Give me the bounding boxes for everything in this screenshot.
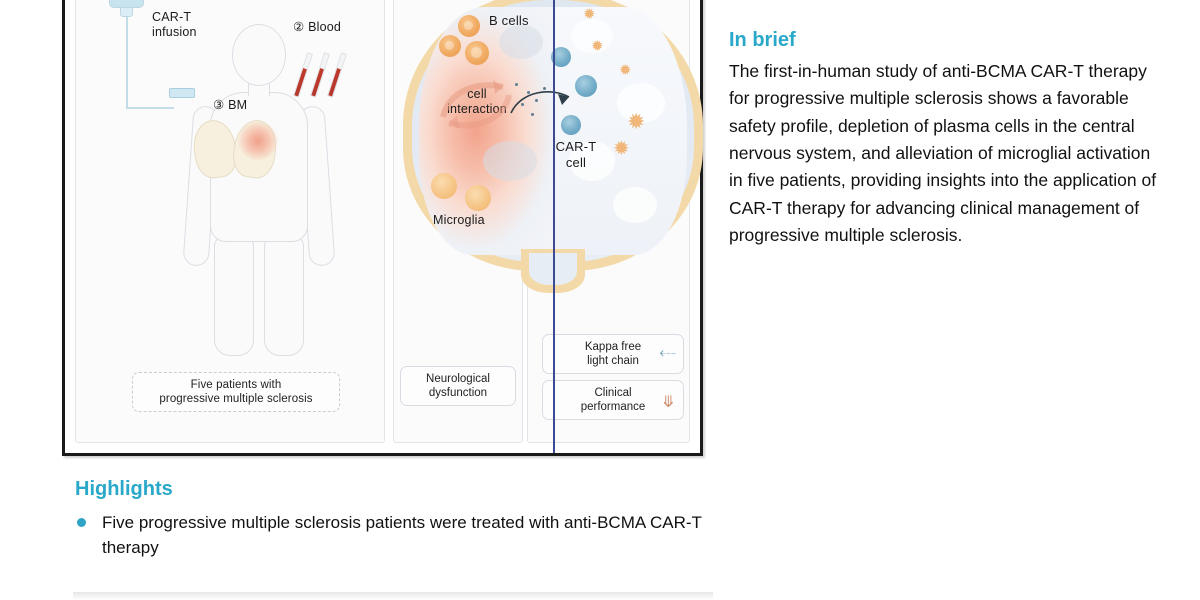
- activated-microglia-icon: ✹: [583, 7, 596, 22]
- content-cutoff-fade: [73, 592, 713, 600]
- panel-patient-sampling: CAR-T infusion ① CSF ② Blood: [75, 0, 385, 443]
- microglia-cell-icon: [431, 173, 457, 199]
- brain-texture-blob: [499, 25, 543, 59]
- correspondence-block: tiands@tjh.tjmu.edu.cn (D.-S.T.), wwang@…: [729, 0, 1159, 1]
- in-brief-body: The first-in-human study of anti-BCMA CA…: [729, 58, 1159, 249]
- b-cell-icon: [458, 15, 480, 37]
- brain-midline-divider: [553, 0, 555, 453]
- left-leg-shape: [214, 236, 254, 356]
- highlights-section: Highlights Five progressive multiple scl…: [73, 478, 713, 569]
- highlights-heading: Highlights: [75, 478, 713, 501]
- particle-dot: [535, 99, 538, 102]
- microglia-cell-icon: [465, 185, 491, 211]
- particle-dot: [543, 87, 546, 90]
- particle-dot: [521, 103, 524, 106]
- brain-texture-blob: [613, 187, 657, 223]
- bullet-icon: [77, 518, 86, 527]
- highlight-text: Five progressive multiple sclerosis pati…: [102, 511, 713, 560]
- iv-tubing-horizontal-icon: [126, 107, 174, 109]
- activated-microglia-icon: ✹: [627, 111, 645, 133]
- up-arrow-icon-clinical: ⤋: [662, 393, 675, 413]
- activated-microglia-icon: ✹: [619, 63, 632, 78]
- graphical-abstract-figure: CAR-T infusion ① CSF ② Blood: [62, 0, 703, 456]
- label-bone-marrow: ③ BM: [213, 98, 247, 113]
- label-microglia: Microglia: [433, 213, 485, 228]
- brain-cross-section-illustration: B cells cell interaction Microglia: [403, 0, 703, 271]
- activated-microglia-icon: ✹: [591, 39, 604, 54]
- in-brief-heading: In brief: [729, 29, 1159, 52]
- right-leg-shape: [264, 236, 304, 356]
- iv-tubing-icon: [126, 17, 128, 109]
- right-text-column: tiands@tjh.tjmu.edu.cn (D.-S.T.), wwang@…: [729, 0, 1159, 249]
- box-clinical-performance: Clinical performance ⤋: [542, 380, 684, 421]
- iv-nozzle-icon: [120, 7, 133, 17]
- down-arrow-icon-kappa: ⤎: [659, 343, 676, 363]
- box-five-patients: Five patients with progressive multiple …: [132, 372, 340, 413]
- activated-microglia-icon: ✹: [613, 139, 630, 159]
- b-cell-icon: [439, 35, 461, 57]
- head-shape: [232, 24, 286, 86]
- list-item: Five progressive multiple sclerosis pati…: [73, 511, 713, 560]
- bone-marrow-lesion-glow-icon: [238, 122, 278, 160]
- correspondence-email-2[interactable]: wwang@tjh.tjmu.edu.cn (W.W.): [729, 0, 1159, 1]
- particle-dot: [527, 91, 530, 94]
- particle-dot: [531, 113, 534, 116]
- box-neurological-dysfunction: Neurological dysfunction: [400, 366, 516, 407]
- particle-dot: [515, 83, 518, 86]
- car-t-cell-icon: [561, 115, 581, 135]
- box-kappa-free-light-chain: Kappa free light chain ⤎: [542, 334, 684, 375]
- label-b-cells: B cells: [489, 13, 529, 29]
- label-blood: ② Blood: [293, 20, 341, 35]
- car-t-cell-icon: [575, 75, 597, 97]
